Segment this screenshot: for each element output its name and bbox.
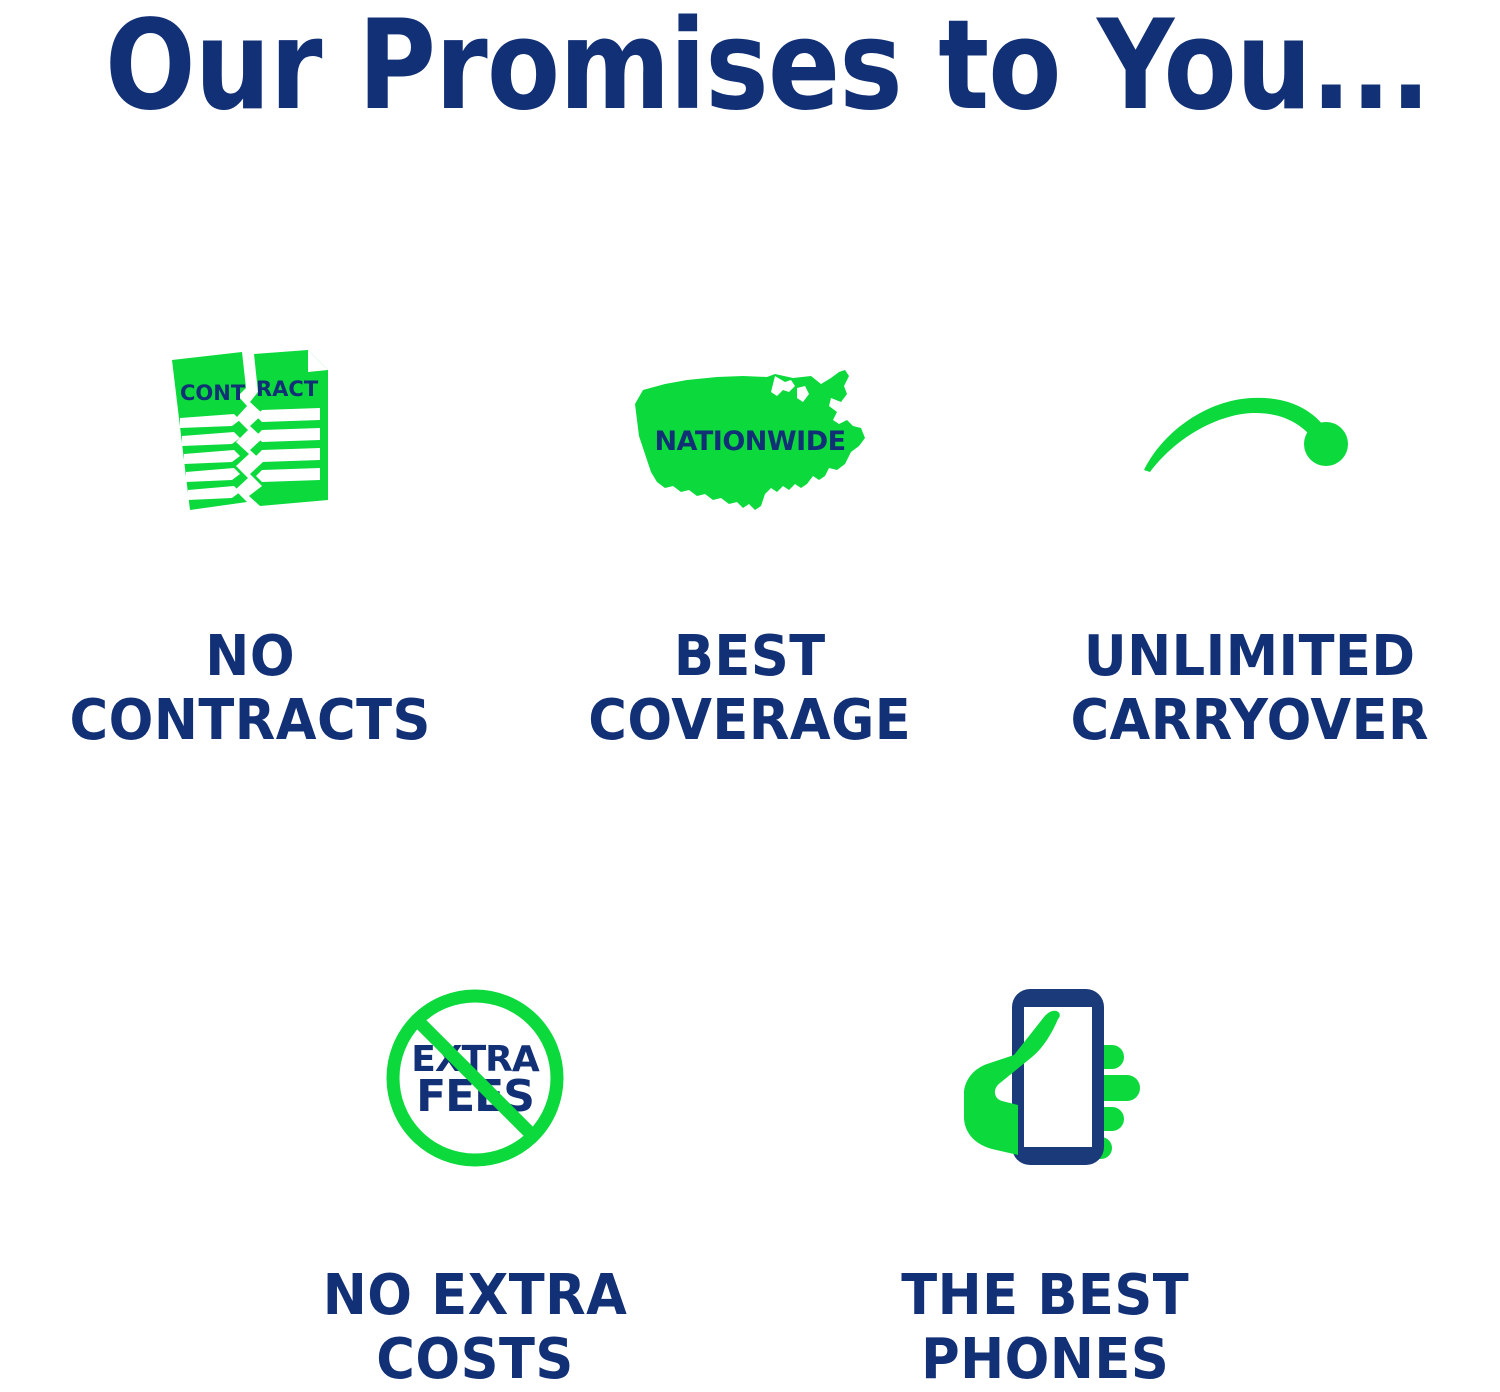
icon-slot: CONT RACT xyxy=(150,340,350,545)
promises-graphic: Our Promises to You... xyxy=(0,0,1500,1367)
icon-slot: EXTRA FEES xyxy=(380,975,570,1180)
promise-label: THE BEST PHONES xyxy=(901,1264,1189,1392)
promise-best-coverage: NATIONWIDE BEST COVERAGE xyxy=(500,340,1000,753)
promise-label-line1: NO xyxy=(205,624,295,689)
arc-arrow-carryover-icon xyxy=(1130,378,1370,508)
promise-label-line1: NO EXTRA xyxy=(323,1263,628,1328)
promises-row-bottom: EXTRA FEES NO EXTRA COSTS xyxy=(0,975,1500,1392)
promise-no-contracts: CONT RACT NO CONTRACTS xyxy=(0,340,500,753)
promise-label: BEST COVERAGE xyxy=(589,625,912,753)
promise-label: UNLIMITED CARRYOVER xyxy=(1071,625,1430,753)
icon-slot xyxy=(940,975,1150,1180)
promise-label-line2: COSTS xyxy=(323,1328,628,1392)
contract-right-text: RACT xyxy=(256,377,319,401)
usa-map-icon: NATIONWIDE xyxy=(625,368,875,518)
promise-label-line2: COVERAGE xyxy=(589,689,912,753)
page-title: Our Promises to You... xyxy=(105,4,1395,128)
promises-row-top: CONT RACT NO CONTRACTS NATIONWIDE xyxy=(0,340,1500,753)
promise-the-best-phones: THE BEST PHONES xyxy=(760,975,1330,1392)
promise-no-extra-costs: EXTRA FEES NO EXTRA COSTS xyxy=(190,975,760,1392)
promise-label-line1: UNLIMITED xyxy=(1084,624,1416,689)
icon-slot: NATIONWIDE xyxy=(625,340,875,545)
promise-label-line1: THE BEST xyxy=(901,1263,1189,1328)
promise-label-line2: PHONES xyxy=(901,1328,1189,1392)
map-overlay-text: NATIONWIDE xyxy=(654,426,845,457)
arc-end-dot xyxy=(1304,422,1348,466)
hand-holding-phone-icon xyxy=(940,983,1150,1173)
promise-label-line1: BEST xyxy=(674,624,826,689)
torn-contract-icon: CONT RACT xyxy=(150,348,350,538)
contract-left-text: CONT xyxy=(180,381,246,405)
promise-unlimited-carryover: UNLIMITED CARRYOVER xyxy=(1000,340,1500,753)
phone-screen xyxy=(1024,1007,1092,1147)
icon-slot xyxy=(1130,340,1370,545)
promise-label: NO EXTRA COSTS xyxy=(323,1264,628,1392)
promise-label-line2: CARRYOVER xyxy=(1071,689,1430,753)
no-extra-fees-icon: EXTRA FEES xyxy=(380,983,570,1173)
promise-label-line2: CONTRACTS xyxy=(69,689,430,753)
promise-label: NO CONTRACTS xyxy=(69,625,430,753)
